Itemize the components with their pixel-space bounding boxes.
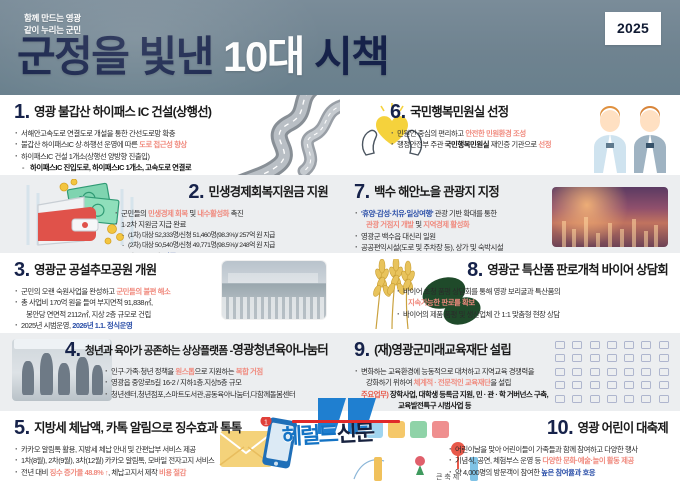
bullet-text: 바이어의 제품 품평 및 생산업체 간 1:1 맞춤형 현장 상담 xyxy=(403,310,560,319)
grid-icon xyxy=(590,395,600,403)
grid-icon xyxy=(624,382,634,390)
item-3-title: 영광군 공설추모공원 개원 xyxy=(34,264,156,276)
bullet-text: 카카오 알림톡 활용, 지방세 체납 안내 및 간편납부 서비스 제공 xyxy=(21,445,196,454)
bullet-text: 변화하는 교육환경에 능동적으로 대처하고 지역교육 경쟁력을 xyxy=(361,367,534,376)
grid-icon xyxy=(624,355,634,363)
grid-icon xyxy=(659,341,669,349)
bullet-line: 총 사업비 170억 원을 들여 부지면적 91,838㎡, xyxy=(14,297,170,308)
bullet-line: 강화하기 위하여 체계적 · 전문적인 교육재단을 설립 xyxy=(354,377,548,388)
item-9-text: 9. (재)영광군미래교육재단 설립 변화하는 교육환경에 능동적으로 대처하고… xyxy=(354,340,548,411)
watermark-logo: 헤럴드신문 xyxy=(281,422,373,449)
grid-icon xyxy=(642,395,652,403)
bullet-text: 관광 기반 확대를 통한 xyxy=(433,209,497,218)
item-3-bullets: 군민의 오랜 숙원사업을 완성하고 군민들의 불편 해소총 사업비 170억 원… xyxy=(14,286,170,331)
page-title-part-1: 군정을 빛낸 xyxy=(17,33,213,80)
bullet-line: 1차(8월), 2차(9월), 3차(12월) 카카오 알림톡, 모바일 전자고… xyxy=(14,455,241,466)
grid-icon xyxy=(572,382,582,390)
bullet-line: 행정안전부 주관 국민행복민원실 재인증 기관으로 선정 xyxy=(390,139,551,150)
bullet-line: 변화하는 교육환경에 능동적으로 대처하고 지역교육 경쟁력을 xyxy=(354,366,548,377)
item-5-text: 5. 지방세 체납액, 카톡 알림으로 징수효과 톡톡 카카오 알림톡 활용, … xyxy=(14,418,241,478)
grid-icon xyxy=(642,341,652,349)
item-7-number: 7. xyxy=(354,182,370,202)
item-8-title: 영광군 특산품 판로개척 바이어 상담회 xyxy=(487,264,668,276)
bullet-text: 인구·가족·청년 정책을 xyxy=(111,367,175,376)
item-7-text: 7. 백수 해안노을 관광지 지정 '휴양·감성·치유·일상여행' 관광 기반 … xyxy=(354,182,529,253)
bullet-text: 1차(8월), 2차(9월), 3차(12월) 카카오 알림톡, 모바일 전자고… xyxy=(21,456,214,465)
year-badge: 2025 xyxy=(605,12,661,45)
bullet-text: 영광군 백수읍 대신리 일원 xyxy=(361,232,436,241)
page-title-part-2: 10대 xyxy=(223,33,304,80)
grid-icon xyxy=(659,355,669,363)
bullet-line: 카카오 알림톡 활용, 지방세 체납 안내 및 간편납부 서비스 제공 xyxy=(14,444,241,455)
bullet-text: 기념식, 공연, 체험부스 운영 등 xyxy=(455,456,542,465)
bullet-text: 청년센터,청년점포,스마트도서관,공동육아나눔터,다함께돌봄센터 xyxy=(111,390,295,399)
row-1: 1. 영광 불갑산 하이패스 IC 건설(상행선) 서해안고속도로 연결도로 개… xyxy=(0,95,680,175)
item-8-bullets: 바이어 초청 품평 상담회를 통해 영광 보리굴과 특산품의지속가능한 판로를 … xyxy=(340,286,680,320)
grid-icon xyxy=(607,368,617,376)
slogan-line-2: 같이 누리는 군민 xyxy=(24,24,81,36)
grid-icon xyxy=(590,382,600,390)
bullet-text: 2025년 시범운영, xyxy=(21,321,72,330)
highway-illustration xyxy=(218,95,340,175)
item-5-number: 5. xyxy=(14,418,30,438)
bullet-text: 민원인 중심의 편리하고 xyxy=(397,129,465,138)
bullet-line: 2025년 시범운영, 2026년 1.1. 정식운영 xyxy=(14,320,170,331)
bullet-line: '휴양·감성·치유·일상여행' 관광 기반 확대를 통한 xyxy=(354,208,529,219)
bullet-text: 재인증 기관으로 xyxy=(489,140,538,149)
item-card-9: 9. (재)영광군미래교육재단 설립 변화하는 교육환경에 능동적으로 대처하고… xyxy=(340,333,680,411)
bullet-text: 2026년 1.1. 정식운영 xyxy=(72,321,132,330)
item-2-number: 2. xyxy=(188,182,204,202)
grid-icon xyxy=(659,382,669,390)
item-10-text: 10. 영광 어린이 대축제 어린이날을 맞아 어린이들이 가족들과 함께 참여… xyxy=(340,418,680,478)
bullet-text: 선정 xyxy=(538,140,551,149)
bullet-text: 영광읍 중앙로5길 16-2 / 지하1층.지상5층 규모 xyxy=(111,378,241,387)
watermark-dark-text: 신문 xyxy=(336,420,374,447)
grid-icon xyxy=(555,341,565,349)
item-9-bullets: 변화하는 교육환경에 능동적으로 대처하고 지역교육 경쟁력을강화하기 위하여 … xyxy=(354,366,548,411)
item-card-4: 4. 청년과 육아가 공존하는 상상플랫폼 -영광청년육아나눔터 인구·가족·청… xyxy=(0,333,340,411)
bullet-text: 지속가능한 판로를 확보 xyxy=(408,298,475,307)
slogan: 함께 만드는 영광 같이 누리는 군민 xyxy=(24,12,81,37)
bullet-line: 불갑산 하이패스IC 상·하행선 운영에 따른 도로 접근성 향상 xyxy=(14,139,211,150)
bullet-text: 지역경제 활성화 xyxy=(423,220,469,229)
memorial-park-photo xyxy=(222,261,326,319)
bullet-line: 영광읍 중앙로5길 16-2 / 지하1층.지상5층 규모 xyxy=(104,377,340,388)
coastal-sunset-photo xyxy=(552,187,668,247)
item-10-title: 영광 어린이 대축제 xyxy=(578,422,668,434)
bullet-text: 비용 절감 xyxy=(159,468,186,477)
item-6-bullets: 민원인 중심의 편리하고 안전한 민원환경 조성행정안전부 주관 국민행복민원실… xyxy=(390,128,551,151)
item-4-title-prefix: 청년과 육아가 공존하는 상상플랫폼 - xyxy=(85,346,233,357)
item-4-title-main: 영광청년육아나눔터 xyxy=(232,344,328,356)
page-title-part-3: 시책 xyxy=(314,33,388,80)
item-7-bullets: '휴양·감성·치유·일상여행' 관광 기반 확대를 통한관광 거점지 개발 및 … xyxy=(354,208,529,253)
bullet-line: 지속가능한 판로를 확보 xyxy=(396,297,680,308)
bullet-text: 으로 지원하는 xyxy=(194,367,235,376)
grid-icon xyxy=(590,341,600,349)
bullet-line: 영광군 백수읍 대신리 일원 xyxy=(354,231,529,242)
bullet-text: 장학사업, 대학생 등록금 지원, 민 · 관 · 학 거버넌스 구축, xyxy=(388,390,548,399)
bullet-line: 청년센터,청년점포,스마트도서관,공동육아나눔터,다함께돌봄센터 xyxy=(104,389,340,400)
bullet-text: '휴양·감성·치유·일상여행' xyxy=(361,209,433,218)
grid-icon xyxy=(642,368,652,376)
bullet-text: (1차) 대상 52,333명/신청 51,460명(98.3%)/ 257억 … xyxy=(128,232,275,239)
bullet-text: 1·2차 지원금 지급 완료 xyxy=(121,220,186,229)
grid-icon xyxy=(572,341,582,349)
grid-icon xyxy=(607,382,617,390)
item-card-8: 8. 영광군 특산품 판로개척 바이어 상담회 바이어 초청 품평 상담회를 통… xyxy=(340,253,680,333)
poster-header: 함께 만드는 영광 같이 누리는 군민 군정을 빛낸 10대 시책 2025 xyxy=(0,0,680,95)
bullet-text: 다양한 문화·예술·놀이 활동 제공 xyxy=(542,456,633,465)
bullet-line: 봉안당 연면적 2112㎡, 지상 2층 규모로 건립 xyxy=(14,309,170,320)
grid-icon xyxy=(555,368,565,376)
grid-icon xyxy=(572,355,582,363)
bullet-text: 민생경제 회복 xyxy=(148,209,188,218)
bullet-text: 봉안당 연면적 2112㎡, 지상 2층 규모로 건립 xyxy=(26,310,151,319)
item-card-6: 6. 국민행복민원실 선정 민원인 중심의 편리하고 안전한 민원환경 조성행정… xyxy=(340,95,680,175)
bullet-text: 군민의 오랜 숙원사업을 완성하고 xyxy=(21,287,116,296)
poster-root: 함께 만드는 영광 같이 누리는 군민 군정을 빛낸 10대 시책 2025 xyxy=(0,0,680,482)
item-1-number: 1. xyxy=(14,102,30,122)
bullet-line: 공공편익시설(도로 및 주차장 등), 상가 및 숙박시설 xyxy=(354,242,529,253)
grid-icon xyxy=(572,368,582,376)
grid-icon xyxy=(590,368,600,376)
item-6-heading: 6. 국민행복민원실 선정 xyxy=(390,102,551,122)
bullet-line: 교육발전특구 시범사업 등 xyxy=(354,400,548,411)
item-7-title: 백수 해안노을 관광지 지정 xyxy=(374,186,499,198)
bullet-text: 을 설립 xyxy=(490,378,511,387)
bullet-text: 서해안고속도로 연결도로 개설을 통한 간선도로망 확충 xyxy=(21,129,175,138)
item-1-title: 영광 불갑산 하이패스 IC 건설(상행선) xyxy=(34,106,211,118)
bullet-text: 하이패스IC 진입도로, 하이패스IC 1개소, 고속도로 연결로 xyxy=(30,163,191,172)
item-4-bullets: 인구·가족·청년 정책을 원스톱으로 지원하는 복합 거점영광읍 중앙로5길 1… xyxy=(0,366,340,400)
item-4-heading: 4. 청년과 육아가 공존하는 상상플랫폼 -영광청년육아나눔터 xyxy=(0,340,340,360)
bullet-text: 행정안전부 주관 xyxy=(397,140,445,149)
item-5-title: 지방세 체납액, 카톡 알림으로 징수효과 톡톡 xyxy=(34,422,241,434)
item-1-heading: 1. 영광 불갑산 하이패스 IC 건설(상행선) xyxy=(14,102,211,122)
bullet-text: 바이어 초청 품평 상담회를 통해 영광 보리굴과 특산품의 xyxy=(403,287,560,296)
grid-icon xyxy=(607,355,617,363)
bullet-text: 촉진 xyxy=(229,209,243,218)
row-2: 2. 민생경제회복지원금 지원 군민들의 민생경제 회복 및 내수활성화 촉진1… xyxy=(0,175,680,253)
bullet-text: 안전한 민원환경 조성 xyxy=(465,129,525,138)
item-6-title: 국민행복민원실 선정 xyxy=(410,106,508,118)
grid-icon xyxy=(572,395,582,403)
bullet-line: 민원인 중심의 편리하고 안전한 민원환경 조성 xyxy=(390,128,551,139)
page-title: 군정을 빛낸 10대 시책 xyxy=(17,36,388,78)
bullet-text: 군민들의 xyxy=(121,209,148,218)
bullet-line: 인구·가족·청년 정책을 원스톱으로 지원하는 복합 거점 xyxy=(104,366,340,377)
grid-icon xyxy=(642,382,652,390)
grid-icon xyxy=(624,368,634,376)
bullet-line: 군민의 오랜 숙원사업을 완성하고 군민들의 불편 해소 xyxy=(14,286,170,297)
bullet-text: , 체납고지서 제작 xyxy=(108,468,159,477)
grid-icon xyxy=(590,355,600,363)
bullet-text: 원스톱 xyxy=(175,367,194,376)
bullet-text: 군민들의 불편 해소 xyxy=(116,287,170,296)
bullet-text: 약 4,000명의 방문객이 참여한 xyxy=(455,468,541,477)
bullet-text: 강화하기 위하여 xyxy=(366,378,414,387)
slogan-line-1: 함께 만드는 영광 xyxy=(24,12,81,24)
bullet-text: 및 xyxy=(414,220,424,229)
grid-icon xyxy=(659,368,669,376)
item-card-3: 3. 영광군 공설추모공원 개원 군민의 오랜 숙원사업을 완성하고 군민들의 … xyxy=(0,253,340,333)
item-2-text: 2. 민생경제회복지원금 지원 군민들의 민생경제 회복 및 내수활성화 촉진1… xyxy=(0,182,340,253)
row-3: 3. 영광군 공설추모공원 개원 군민의 오랜 숙원사업을 완성하고 군민들의 … xyxy=(0,253,680,333)
bullet-text: 교육발전특구 시범사업 등 xyxy=(398,401,471,410)
watermark-underline xyxy=(292,420,400,423)
item-3-heading: 3. 영광군 공설추모공원 개원 xyxy=(14,260,170,280)
item-7-heading: 7. 백수 해안노을 관광지 지정 xyxy=(354,182,529,202)
item-4-number: 4. xyxy=(65,340,81,360)
item-2-bullets: 군민들의 민생경제 회복 및 내수활성화 촉진1·2차 지원금 지급 완료(1차… xyxy=(0,208,340,253)
item-5-bullets: 카카오 알림톡 활용, 지방세 체납 안내 및 간편납부 서비스 제공1차(8월… xyxy=(14,444,241,478)
item-3-text: 3. 영광군 공설추모공원 개원 군민의 오랜 숙원사업을 완성하고 군민들의 … xyxy=(14,260,170,331)
item-8-heading: 8. 영광군 특산품 판로개척 바이어 상담회 xyxy=(340,260,680,280)
item-9-heading: 9. (재)영광군미래교육재단 설립 xyxy=(354,340,548,360)
grid-icon xyxy=(624,395,634,403)
education-icon-grid xyxy=(552,339,672,405)
item-3-number: 3. xyxy=(14,260,30,280)
bullet-text: 국민행복민원실 xyxy=(445,140,489,149)
item-1-bullets: 서해안고속도로 연결도로 개설을 통한 간선도로망 확충불갑산 하이패스IC 상… xyxy=(14,128,211,173)
bullet-line: 약 4,000명의 방문객이 참여한 높은 참여율과 호응 xyxy=(448,467,680,478)
item-9-title: (재)영광군미래교육재단 설립 xyxy=(374,344,511,356)
grid-icon xyxy=(555,382,565,390)
item-8-number: 8. xyxy=(467,260,483,280)
bullet-line: (1차) 대상 52,333명/신청 51,460명(98.3%)/ 257억 … xyxy=(114,231,340,241)
bullet-line: (2차) 대상 50,540명/신청 49,771명(98.5%)/ 248억 … xyxy=(114,241,340,251)
watermark-blue-text: 헤럴드 xyxy=(281,422,337,450)
bullet-line: 전년 대비 징수 증가율 48.8% ↑, 체납고지서 제작 비용 절감 xyxy=(14,467,241,478)
item-card-7: 7. 백수 해안노을 관광지 지정 '휴양·감성·치유·일상여행' 관광 기반 … xyxy=(340,175,680,253)
bullet-line: 바이어 초청 품평 상담회를 통해 영광 보리굴과 특산품의 xyxy=(396,286,680,297)
bullet-text: 높은 참여율과 호응 xyxy=(541,468,595,477)
item-6-text: 6. 국민행복민원실 선정 민원인 중심의 편리하고 안전한 민원환경 조성행정… xyxy=(390,102,551,151)
bullet-line: 기념식, 공연, 체험부스 운영 등 다양한 문화·예술·놀이 활동 제공 xyxy=(448,455,680,466)
item-1-text: 1. 영광 불갑산 하이패스 IC 건설(상행선) 서해안고속도로 연결도로 개… xyxy=(14,102,211,173)
item-9-number: 9. xyxy=(354,340,370,360)
bullet-text: 공공편익시설(도로 및 주차장 등), 상가 및 숙박시설 xyxy=(361,243,503,252)
bullet-line: 하이패스IC 진입도로, 하이패스IC 1개소, 고속도로 연결로 xyxy=(14,162,211,173)
item-5-heading: 5. 지방세 체납액, 카톡 알림으로 징수효과 톡톡 xyxy=(14,418,241,438)
svg-text:1: 1 xyxy=(264,420,268,427)
grid-icon xyxy=(607,341,617,349)
grid-icon xyxy=(624,341,634,349)
officials-illustration xyxy=(586,103,674,173)
bullet-text: 불갑산 하이패스IC 상·하행선 운영에 따른 xyxy=(21,140,139,149)
bullet-text: 총 사업비 170억 원을 들여 부지면적 91,838㎡, xyxy=(21,298,153,307)
bullet-line: 서해안고속도로 연결도로 개설을 통한 간선도로망 확충 xyxy=(14,128,211,139)
item-6-number: 6. xyxy=(390,102,406,122)
bullet-text: 하이패스IC 건설 1개소(상행선 양방향 진출입) xyxy=(21,152,150,161)
item-card-1: 1. 영광 불갑산 하이패스 IC 건설(상행선) 서해안고속도로 연결도로 개… xyxy=(0,95,340,175)
grid-icon xyxy=(555,395,565,403)
item-2-heading: 2. 민생경제회복지원금 지원 xyxy=(0,182,340,202)
bullet-text: 내수활성화 xyxy=(197,209,229,218)
bullet-text: 도로 접근성 향상 xyxy=(139,140,187,149)
bullet-line: 주요업무) 장학사업, 대학생 등록금 지원, 민 · 관 · 학 거버넌스 구… xyxy=(354,389,548,400)
grid-icon xyxy=(659,395,669,403)
bullet-text: 관광 거점지 개발 xyxy=(366,220,414,229)
item-10-number: 10. xyxy=(547,418,573,438)
item-card-2: 2. 민생경제회복지원금 지원 군민들의 민생경제 회복 및 내수활성화 촉진1… xyxy=(0,175,340,253)
bullet-text: 복합 거점 xyxy=(236,367,263,376)
item-8-text: 8. 영광군 특산품 판로개척 바이어 상담회 바이어 초청 품평 상담회를 통… xyxy=(340,260,680,320)
bullet-text: 체계적 · 전문적인 교육재단 xyxy=(414,378,491,387)
bullet-text: 전년 대비 xyxy=(21,468,50,477)
bullet-text: 및 xyxy=(188,209,198,218)
bullet-line: 바이어의 제품 품평 및 생산업체 간 1:1 맞춤형 현장 상담 xyxy=(396,309,680,320)
grid-icon xyxy=(555,355,565,363)
bullet-line: 1·2차 지원금 지급 완료 xyxy=(114,219,340,230)
item-4-text: 4. 청년과 육아가 공존하는 상상플랫폼 -영광청년육아나눔터 인구·가족·청… xyxy=(0,340,340,400)
bullet-line: 관광 거점지 개발 및 지역경제 활성화 xyxy=(354,219,529,230)
bullet-line: 하이패스IC 건설 1개소(상행선 양방향 진출입) xyxy=(14,151,211,162)
grid-icon xyxy=(607,395,617,403)
bullet-text: (2차) 대상 50,540명/신청 49,771명(98.5%)/ 248억 … xyxy=(128,242,275,249)
grid-icon xyxy=(642,355,652,363)
item-2-title: 민생경제회복지원금 지원 xyxy=(209,186,328,198)
bullet-text: 어린이날을 맞아 어린이들이 가족들과 함께 참여하고 다양한 행사 xyxy=(455,445,638,454)
item-10-bullets: 어린이날을 맞아 어린이들이 가족들과 함께 참여하고 다양한 행사기념식, 공… xyxy=(340,444,680,478)
bullet-line: 어린이날을 맞아 어린이들이 가족들과 함께 참여하고 다양한 행사 xyxy=(448,444,680,455)
bullet-text: 징수 증가율 48.8% ↑ xyxy=(50,468,109,477)
bullet-line: 군민들의 민생경제 회복 및 내수활성화 촉진 xyxy=(114,208,340,219)
